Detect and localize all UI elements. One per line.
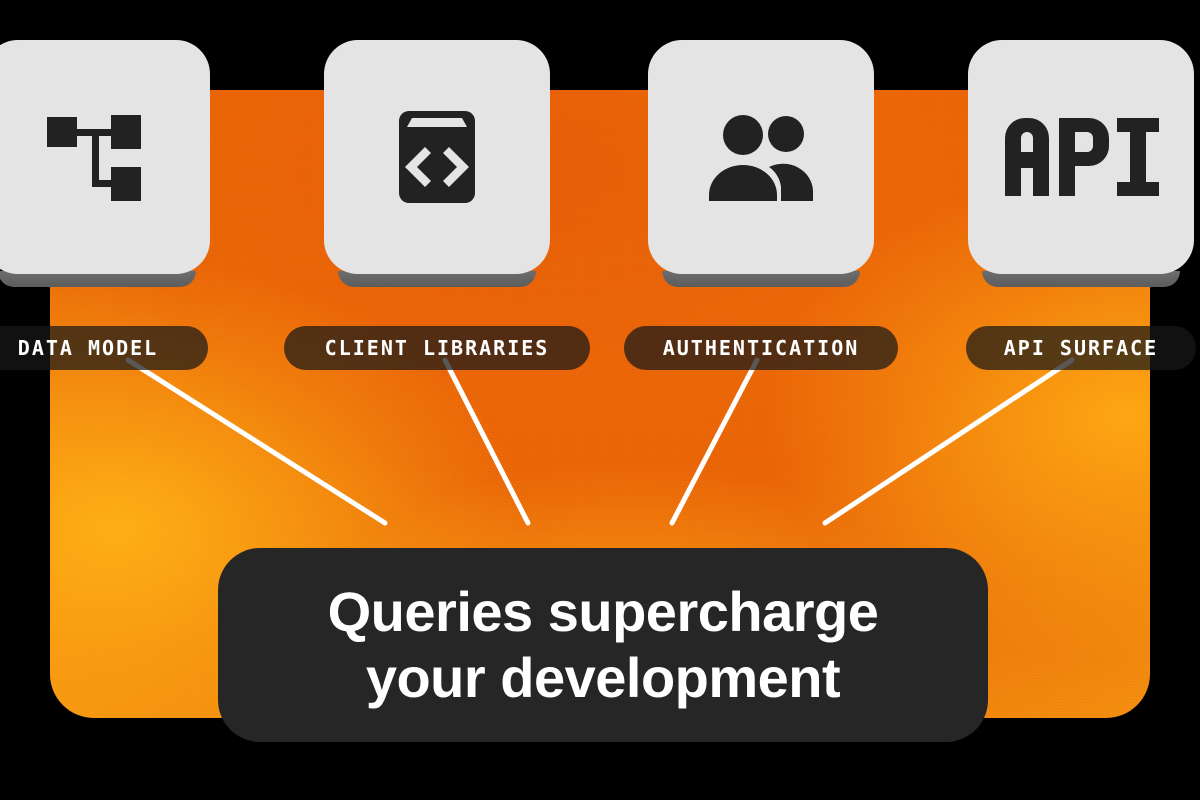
feature-data-model[interactable]: DATA MODEL xyxy=(0,40,210,274)
hierarchy-icon xyxy=(45,105,149,209)
api-text-icon xyxy=(1001,118,1161,196)
pill-client-libraries[interactable]: CLIENT LIBRARIES xyxy=(284,326,590,370)
pill-label-data-model: DATA MODEL xyxy=(18,336,158,360)
pill-authentication[interactable]: AUTHENTICATION xyxy=(624,326,898,370)
illustration-canvas: DATA MODEL CLIENT LIBRARIES xyxy=(0,0,1200,800)
icon-card-data-model[interactable] xyxy=(0,40,210,274)
users-icon xyxy=(703,105,819,209)
feature-authentication[interactable]: AUTHENTICATION xyxy=(648,40,874,274)
pill-label-api-surface: API SURFACE xyxy=(1004,336,1158,360)
headline-text: Queries supercharge your development xyxy=(328,579,879,711)
code-package-icon xyxy=(385,105,489,209)
pill-data-model[interactable]: DATA MODEL xyxy=(0,326,208,370)
icon-card-authentication[interactable] xyxy=(648,40,874,274)
headline-line-2: your development xyxy=(328,645,879,711)
icon-card-api-surface[interactable] xyxy=(968,40,1194,274)
pill-api-surface[interactable]: API SURFACE xyxy=(966,326,1196,370)
feature-api-surface[interactable]: API SURFACE xyxy=(968,40,1194,274)
headline-line-1: Queries supercharge xyxy=(328,579,879,645)
icon-card-client-libraries[interactable] xyxy=(324,40,550,274)
feature-client-libraries[interactable]: CLIENT LIBRARIES xyxy=(324,40,550,274)
headline-card: Queries supercharge your development xyxy=(218,548,988,742)
pill-label-client-libraries: CLIENT LIBRARIES xyxy=(325,336,550,360)
pill-label-authentication: AUTHENTICATION xyxy=(663,336,860,360)
